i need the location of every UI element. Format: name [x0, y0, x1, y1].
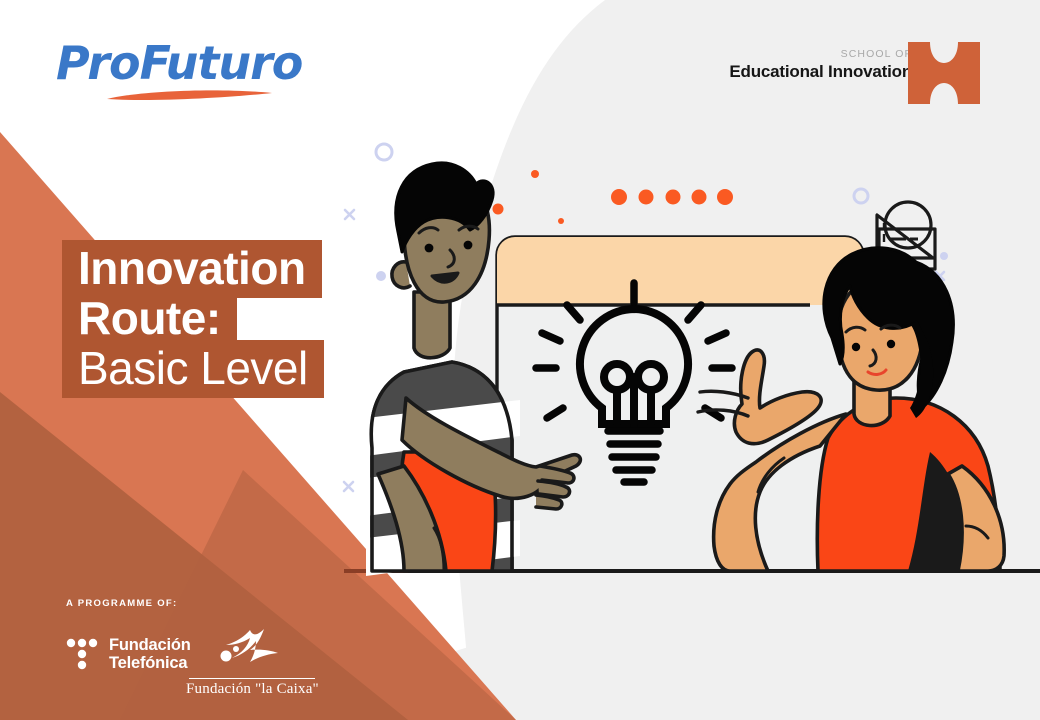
- telefonica-dots-icon: [66, 638, 100, 672]
- profuturo-underline-swoosh: [104, 86, 276, 104]
- school-name: Educational Innovation: [729, 61, 912, 82]
- telefonica-line-2: Telefónica: [109, 655, 191, 673]
- partner-logo-row: Fundación Telefónica Fundación "la Caixa…: [66, 627, 366, 691]
- x-mark-logo: [908, 42, 980, 104]
- title-line-3: Basic Level: [62, 340, 324, 398]
- footer-partners: A PROGRAMME OF: Fundación Telefónica: [66, 598, 366, 688]
- title-row-3: Basic Level: [62, 340, 324, 390]
- fundacion-la-caixa-logo[interactable]: Fundación "la Caixa": [186, 627, 318, 698]
- telefonica-line-1: Fundación: [109, 637, 191, 655]
- school-of-educational-innovation-logo[interactable]: SCHOOL OF Educational Innovation: [720, 42, 980, 108]
- la-caixa-wordmark: Fundación "la Caixa": [186, 679, 318, 698]
- title-row-1: Innovation: [62, 240, 324, 290]
- profuturo-wordmark: ProFuturo: [56, 38, 286, 88]
- school-eyebrow: SCHOOL OF: [729, 48, 912, 61]
- slide-canvas: ProFuturo SCHOOL OF Educational Innovati…: [0, 0, 1040, 720]
- telefonica-wordmark: Fundación Telefónica: [109, 637, 191, 672]
- la-caixa-star-icon: [186, 627, 318, 671]
- school-badge-text: SCHOOL OF Educational Innovation: [729, 48, 912, 82]
- page-title: Innovation Route: Basic Level: [62, 240, 324, 390]
- fundacion-telefonica-logo[interactable]: Fundación Telefónica: [66, 637, 191, 672]
- profuturo-logo[interactable]: ProFuturo: [56, 38, 286, 104]
- programme-of-label: A PROGRAMME OF:: [66, 598, 366, 609]
